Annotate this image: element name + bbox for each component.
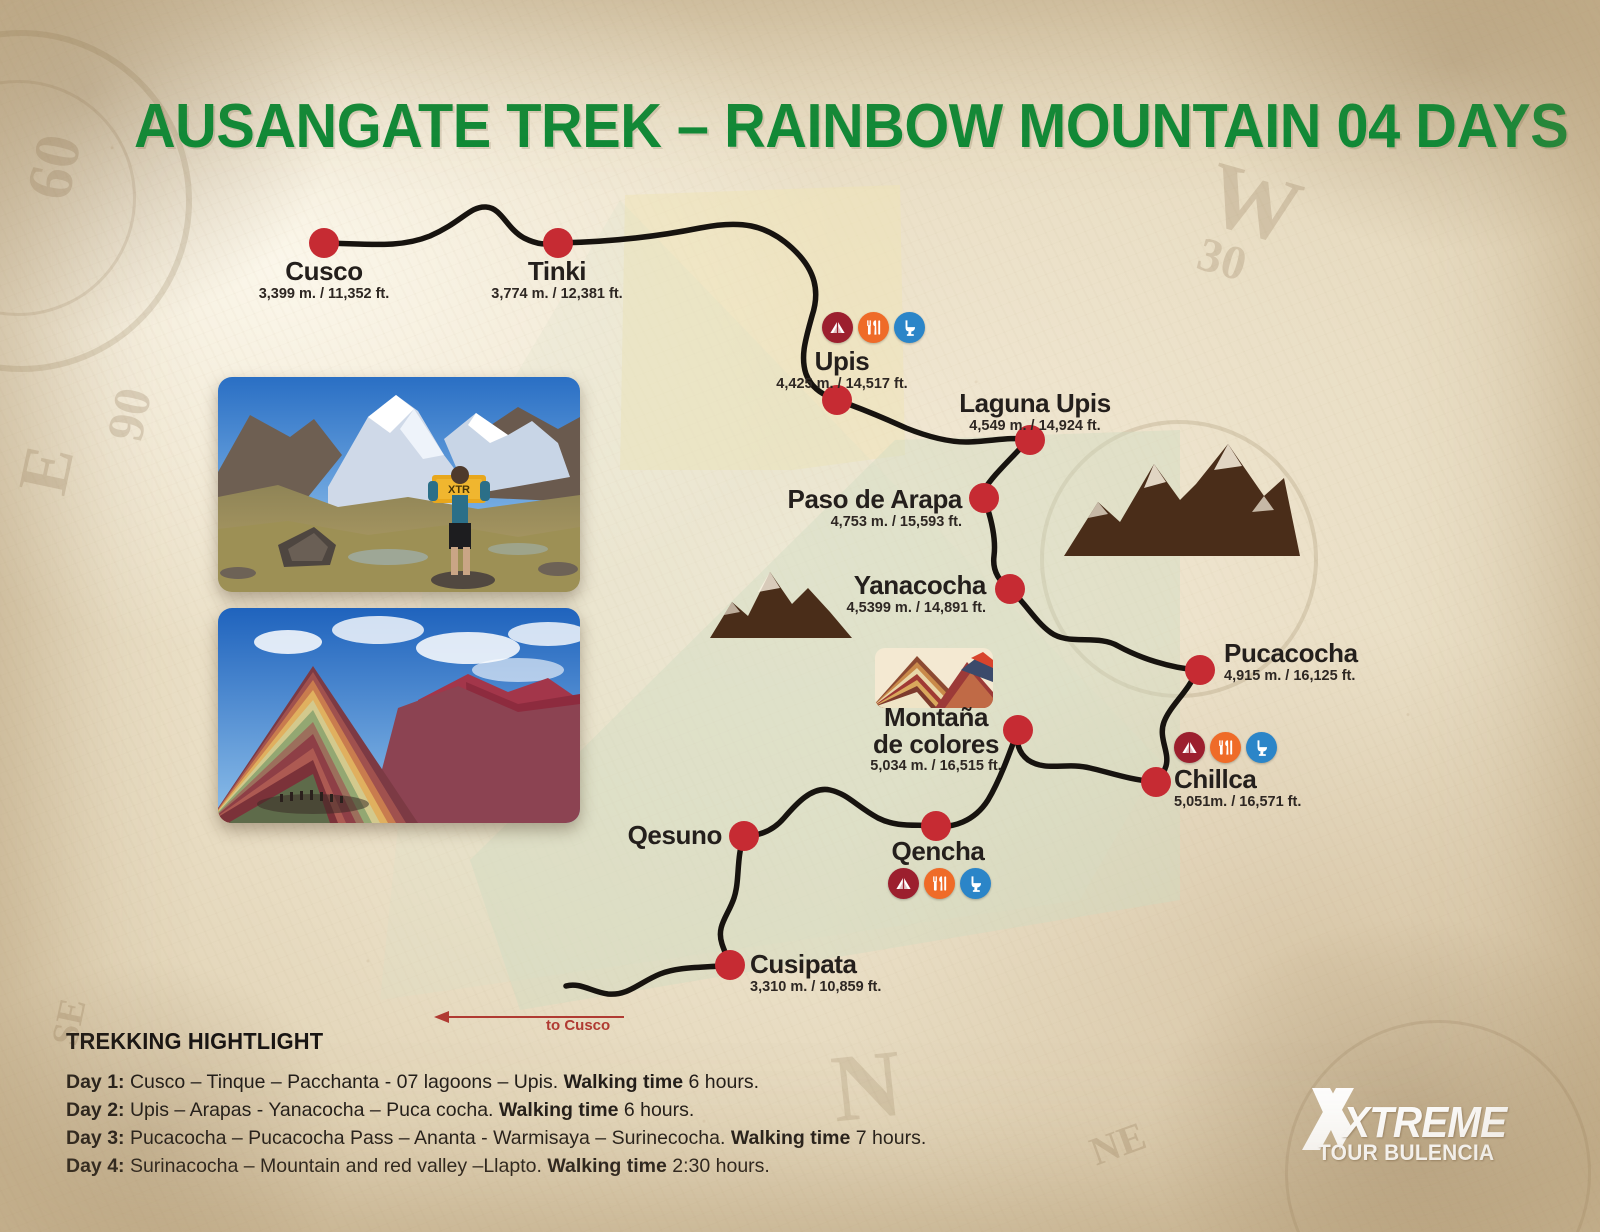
logo-subtitle: TOUR BULENCIA xyxy=(1318,1140,1494,1166)
waypoint-elevation: 3,774 m. / 12,381 ft. xyxy=(452,286,662,302)
highlight-day-row: Day 1: Cusco – Tinque – Pacchanta - 07 l… xyxy=(66,1069,1026,1097)
walking-time-label: Walking time xyxy=(564,1071,684,1093)
waypoint-label-tinki: Tinki 3,774 m. / 12,381 ft. xyxy=(452,258,662,302)
waypoint-label-cusipata: Cusipata 3,310 m. / 10,859 ft. xyxy=(750,951,980,995)
waypoint-elevation: 4,915 m. / 16,125 ft. xyxy=(1224,668,1484,684)
waypoint-label-qesuno: Qesuno xyxy=(560,822,722,849)
waypoint-name: Upis xyxy=(768,348,916,375)
waypoint-elevation: 4,5399 m. / 14,891 ft. xyxy=(722,600,986,616)
waypoint-label-montana-de-colores: Montaña de colores 5,034 m. / 16,515 ft. xyxy=(856,704,1016,774)
waypoint-elevation: 4,753 m. / 15,593 ft. xyxy=(690,514,962,530)
waypoint-name: Pucacocha xyxy=(1224,640,1484,667)
waypoint-dot-tinki xyxy=(543,228,573,258)
walking-time-label: Walking time xyxy=(731,1127,851,1149)
waypoint-name-line2: de colores xyxy=(856,731,1016,758)
day-label: Day 1: xyxy=(66,1071,125,1093)
waypoint-name: Laguna Upis xyxy=(890,390,1180,417)
waypoint-dot-cusipata xyxy=(715,950,745,980)
day-route: Pucacocha – Pucacocha Pass – Ananta - Wa… xyxy=(125,1127,731,1149)
waypoint-name-line1: Montaña xyxy=(856,704,1016,731)
waypoint-dot-cusco xyxy=(309,228,339,258)
waypoint-dot-paso-de-arapa xyxy=(969,483,999,513)
waypoint-elevation: 3,399 m. / 11,352 ft. xyxy=(224,286,424,302)
waypoint-label-chillca: Chillca 5,051m. / 16,571 ft. xyxy=(1174,766,1394,810)
amenities-chillca xyxy=(1174,732,1277,763)
waypoint-label-paso-de-arapa: Paso de Arapa 4,753 m. / 15,593 ft. xyxy=(690,486,962,530)
poster-root: 60 W 30 E 90 N NE SE AUSANGATE TREK – RA… xyxy=(0,0,1600,1232)
dining-icon xyxy=(924,868,955,899)
waypoint-name: Cusco xyxy=(224,258,424,285)
waypoint-label-pucacocha: Pucacocha 4,915 m. / 16,125 ft. xyxy=(1224,640,1484,684)
dining-icon xyxy=(858,312,889,343)
day-label: Day 4: xyxy=(66,1155,125,1177)
waypoint-dot-pucacocha xyxy=(1185,655,1215,685)
trekking-highlight-section: TREKKING HIGHTLIGHT Day 1: Cusco – Tinqu… xyxy=(66,1028,1026,1181)
waypoint-label-upis: Upis 4,425 m. / 14,517 ft. xyxy=(768,348,916,392)
waypoint-dot-chillca xyxy=(1141,767,1171,797)
walking-time-label: Walking time xyxy=(547,1155,667,1177)
waypoint-elevation: 5,034 m. / 16,515 ft. xyxy=(856,758,1016,774)
day-label: Day 3: xyxy=(66,1127,125,1149)
waypoint-name: Qesuno xyxy=(560,822,722,849)
waypoint-elevation: 5,051m. / 16,571 ft. xyxy=(1174,794,1394,810)
dining-icon xyxy=(1210,732,1241,763)
walking-time-label: Walking time xyxy=(499,1099,619,1121)
walking-time-value: 6 hours. xyxy=(618,1099,694,1121)
walking-time-value: 2:30 hours. xyxy=(667,1155,770,1177)
waypoint-name: Cusipata xyxy=(750,951,980,978)
day-route: Surinacocha – Mountain and red valley –L… xyxy=(125,1155,548,1177)
waypoint-name: Qencha xyxy=(856,838,1020,865)
day-label: Day 2: xyxy=(66,1099,125,1121)
brand-logo[interactable]: XTREME TOUR BULENCIA xyxy=(1296,1088,1546,1162)
highlight-day-row: Day 3: Pucacocha – Pucacocha Pass – Anan… xyxy=(66,1125,1026,1153)
waypoint-name: Yanacocha xyxy=(722,572,986,599)
walking-time-value: 7 hours. xyxy=(850,1127,926,1149)
amenities-upis xyxy=(822,312,925,343)
waypoint-elevation: 4,549 m. / 14,924 ft. xyxy=(890,418,1180,434)
waypoint-name: Tinki xyxy=(452,258,662,285)
toilet-icon xyxy=(960,868,991,899)
waypoint-label-yanacocha: Yanacocha 4,5399 m. / 14,891 ft. xyxy=(722,572,986,616)
day-route: Cusco – Tinque – Pacchanta - 07 lagoons … xyxy=(125,1071,564,1093)
waypoint-dot-qesuno xyxy=(729,821,759,851)
camping-icon xyxy=(888,868,919,899)
highlight-day-row: Day 2: Upis – Arapas - Yanacocha – Puca … xyxy=(66,1097,1026,1125)
day-route: Upis – Arapas - Yanacocha – Puca cocha. xyxy=(125,1099,499,1121)
waypoint-name: Paso de Arapa xyxy=(690,486,962,513)
highlight-day-list: Day 1: Cusco – Tinque – Pacchanta - 07 l… xyxy=(66,1069,1026,1181)
toilet-icon xyxy=(1246,732,1277,763)
toilet-icon xyxy=(894,312,925,343)
highlight-title: TREKKING HIGHTLIGHT xyxy=(66,1028,978,1055)
amenities-qencha xyxy=(888,868,991,899)
camping-icon xyxy=(822,312,853,343)
waypoint-name: Chillca xyxy=(1174,766,1394,793)
waypoint-label-qencha: Qencha xyxy=(856,838,1020,865)
walking-time-value: 6 hours. xyxy=(683,1071,759,1093)
camping-icon xyxy=(1174,732,1205,763)
waypoint-elevation: 3,310 m. / 10,859 ft. xyxy=(750,979,980,995)
waypoint-label-cusco: Cusco 3,399 m. / 11,352 ft. xyxy=(224,258,424,302)
waypoint-dot-yanacocha xyxy=(995,574,1025,604)
waypoint-label-laguna-upis: Laguna Upis 4,549 m. / 14,924 ft. xyxy=(890,390,1180,434)
highlight-day-row: Day 4: Surinacocha – Mountain and red va… xyxy=(66,1153,1026,1181)
